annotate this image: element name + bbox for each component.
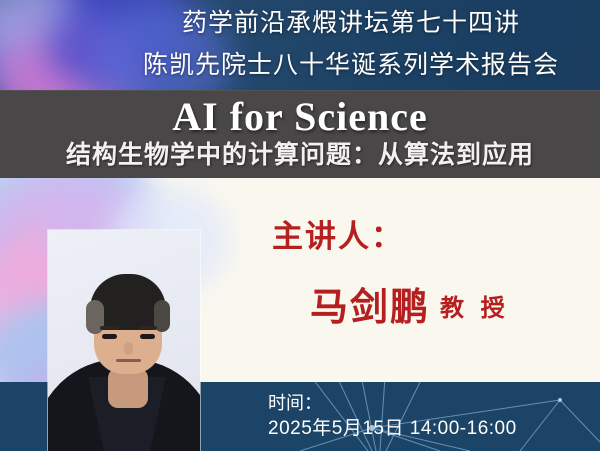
speaker-academic-title: 教 授 (440, 295, 510, 322)
portrait-nose (124, 342, 133, 355)
page-subtitle: 结构生物学中的计算问题：从算法到应用 (0, 140, 600, 172)
page-title: AI for Science (0, 92, 600, 142)
header-text-group: 药学前沿承煆讲坛第七十四讲 陈凯先院士八十华诞系列学术报告会 (116, 2, 586, 86)
event-poster: 药学前沿承煆讲坛第七十四讲 陈凯先院士八十华诞系列学术报告会 AI for Sc… (0, 0, 600, 451)
portrait-eye-left (102, 334, 117, 339)
header-line-2: 陈凯先院士八十华诞系列学术报告会 (116, 44, 586, 86)
portrait-neck (108, 368, 148, 408)
portrait-mouth (116, 359, 141, 362)
speaker-name: 马剑鹏 (310, 287, 430, 329)
schedule-label: 时间： (268, 382, 598, 416)
portrait-brow-right (138, 326, 157, 330)
speaker-portrait (48, 230, 200, 451)
header-line-1: 药学前沿承煆讲坛第七十四讲 (116, 2, 586, 44)
speaker-name-group: 马剑鹏教 授 (310, 285, 510, 332)
title-band: AI for Science 结构生物学中的计算问题：从算法到应用 (0, 90, 600, 178)
portrait-brow-left (100, 326, 119, 330)
schedule-value: 2025年5月15日 14:00-16:00 (268, 416, 598, 442)
portrait-hair (90, 274, 166, 330)
header-band: 药学前沿承煆讲坛第七十四讲 陈凯先院士八十华诞系列学术报告会 (0, 0, 600, 90)
schedule-group: 时间： 2025年5月15日 14:00-16:00 (268, 382, 598, 442)
speaker-label: 主讲人： (272, 218, 404, 256)
portrait-eye-right (140, 334, 155, 339)
